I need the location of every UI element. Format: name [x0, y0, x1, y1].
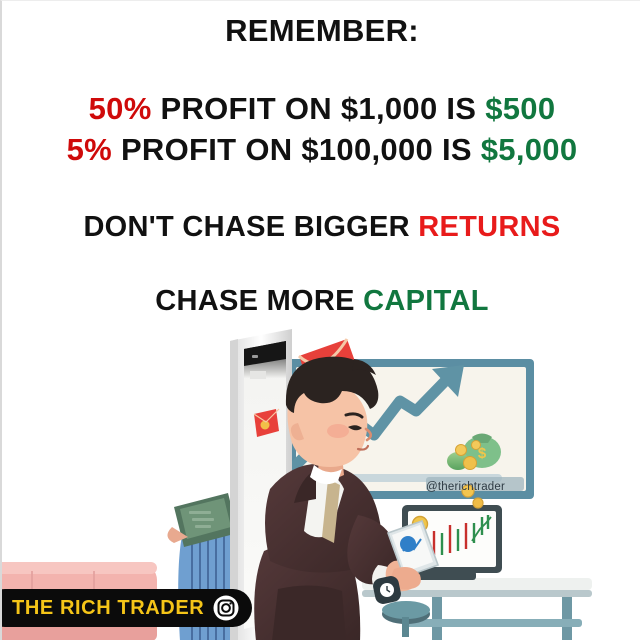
advice-2-lead: CHASE MORE [155, 285, 363, 317]
stat-1-result: $500 [485, 91, 555, 126]
stat-2-percent: 5% [67, 132, 112, 167]
advice-1-emphasis: RETURNS [418, 211, 560, 243]
brand-badge-label: THE RICH TRADER [12, 597, 204, 620]
instagram-icon[interactable] [213, 595, 239, 621]
watermark-handle: @therichtrader [426, 481, 505, 493]
headline-advice-1: DON'T CHASE BIGGER RETURNS [2, 213, 640, 242]
headline-stat-1: 50% PROFIT ON $1,000 IS $500 [2, 93, 640, 124]
advice-1-lead: DON'T CHASE BIGGER [83, 211, 418, 243]
stat-2-result: $5,000 [481, 132, 578, 167]
headline-stat-2: 5% PROFIT ON $100,000 IS $5,000 [2, 134, 640, 165]
office-chair [382, 601, 430, 637]
headline-remember: REMEMBER: [2, 15, 640, 46]
brand-badge[interactable]: THE RICH TRADER [0, 589, 252, 627]
poster-canvas: REMEMBER: 50% PROFIT ON $1,000 IS $500 5… [0, 0, 640, 640]
advice-2-emphasis: CAPITAL [363, 285, 489, 317]
stat-1-percent: 50% [89, 91, 152, 126]
headline-advice-2: CHASE MORE CAPITAL [2, 287, 640, 316]
stat-1-middle: PROFIT ON $1,000 IS [152, 91, 486, 126]
keyboard [416, 571, 476, 580]
stat-2-middle: PROFIT ON $100,000 IS [112, 132, 481, 167]
